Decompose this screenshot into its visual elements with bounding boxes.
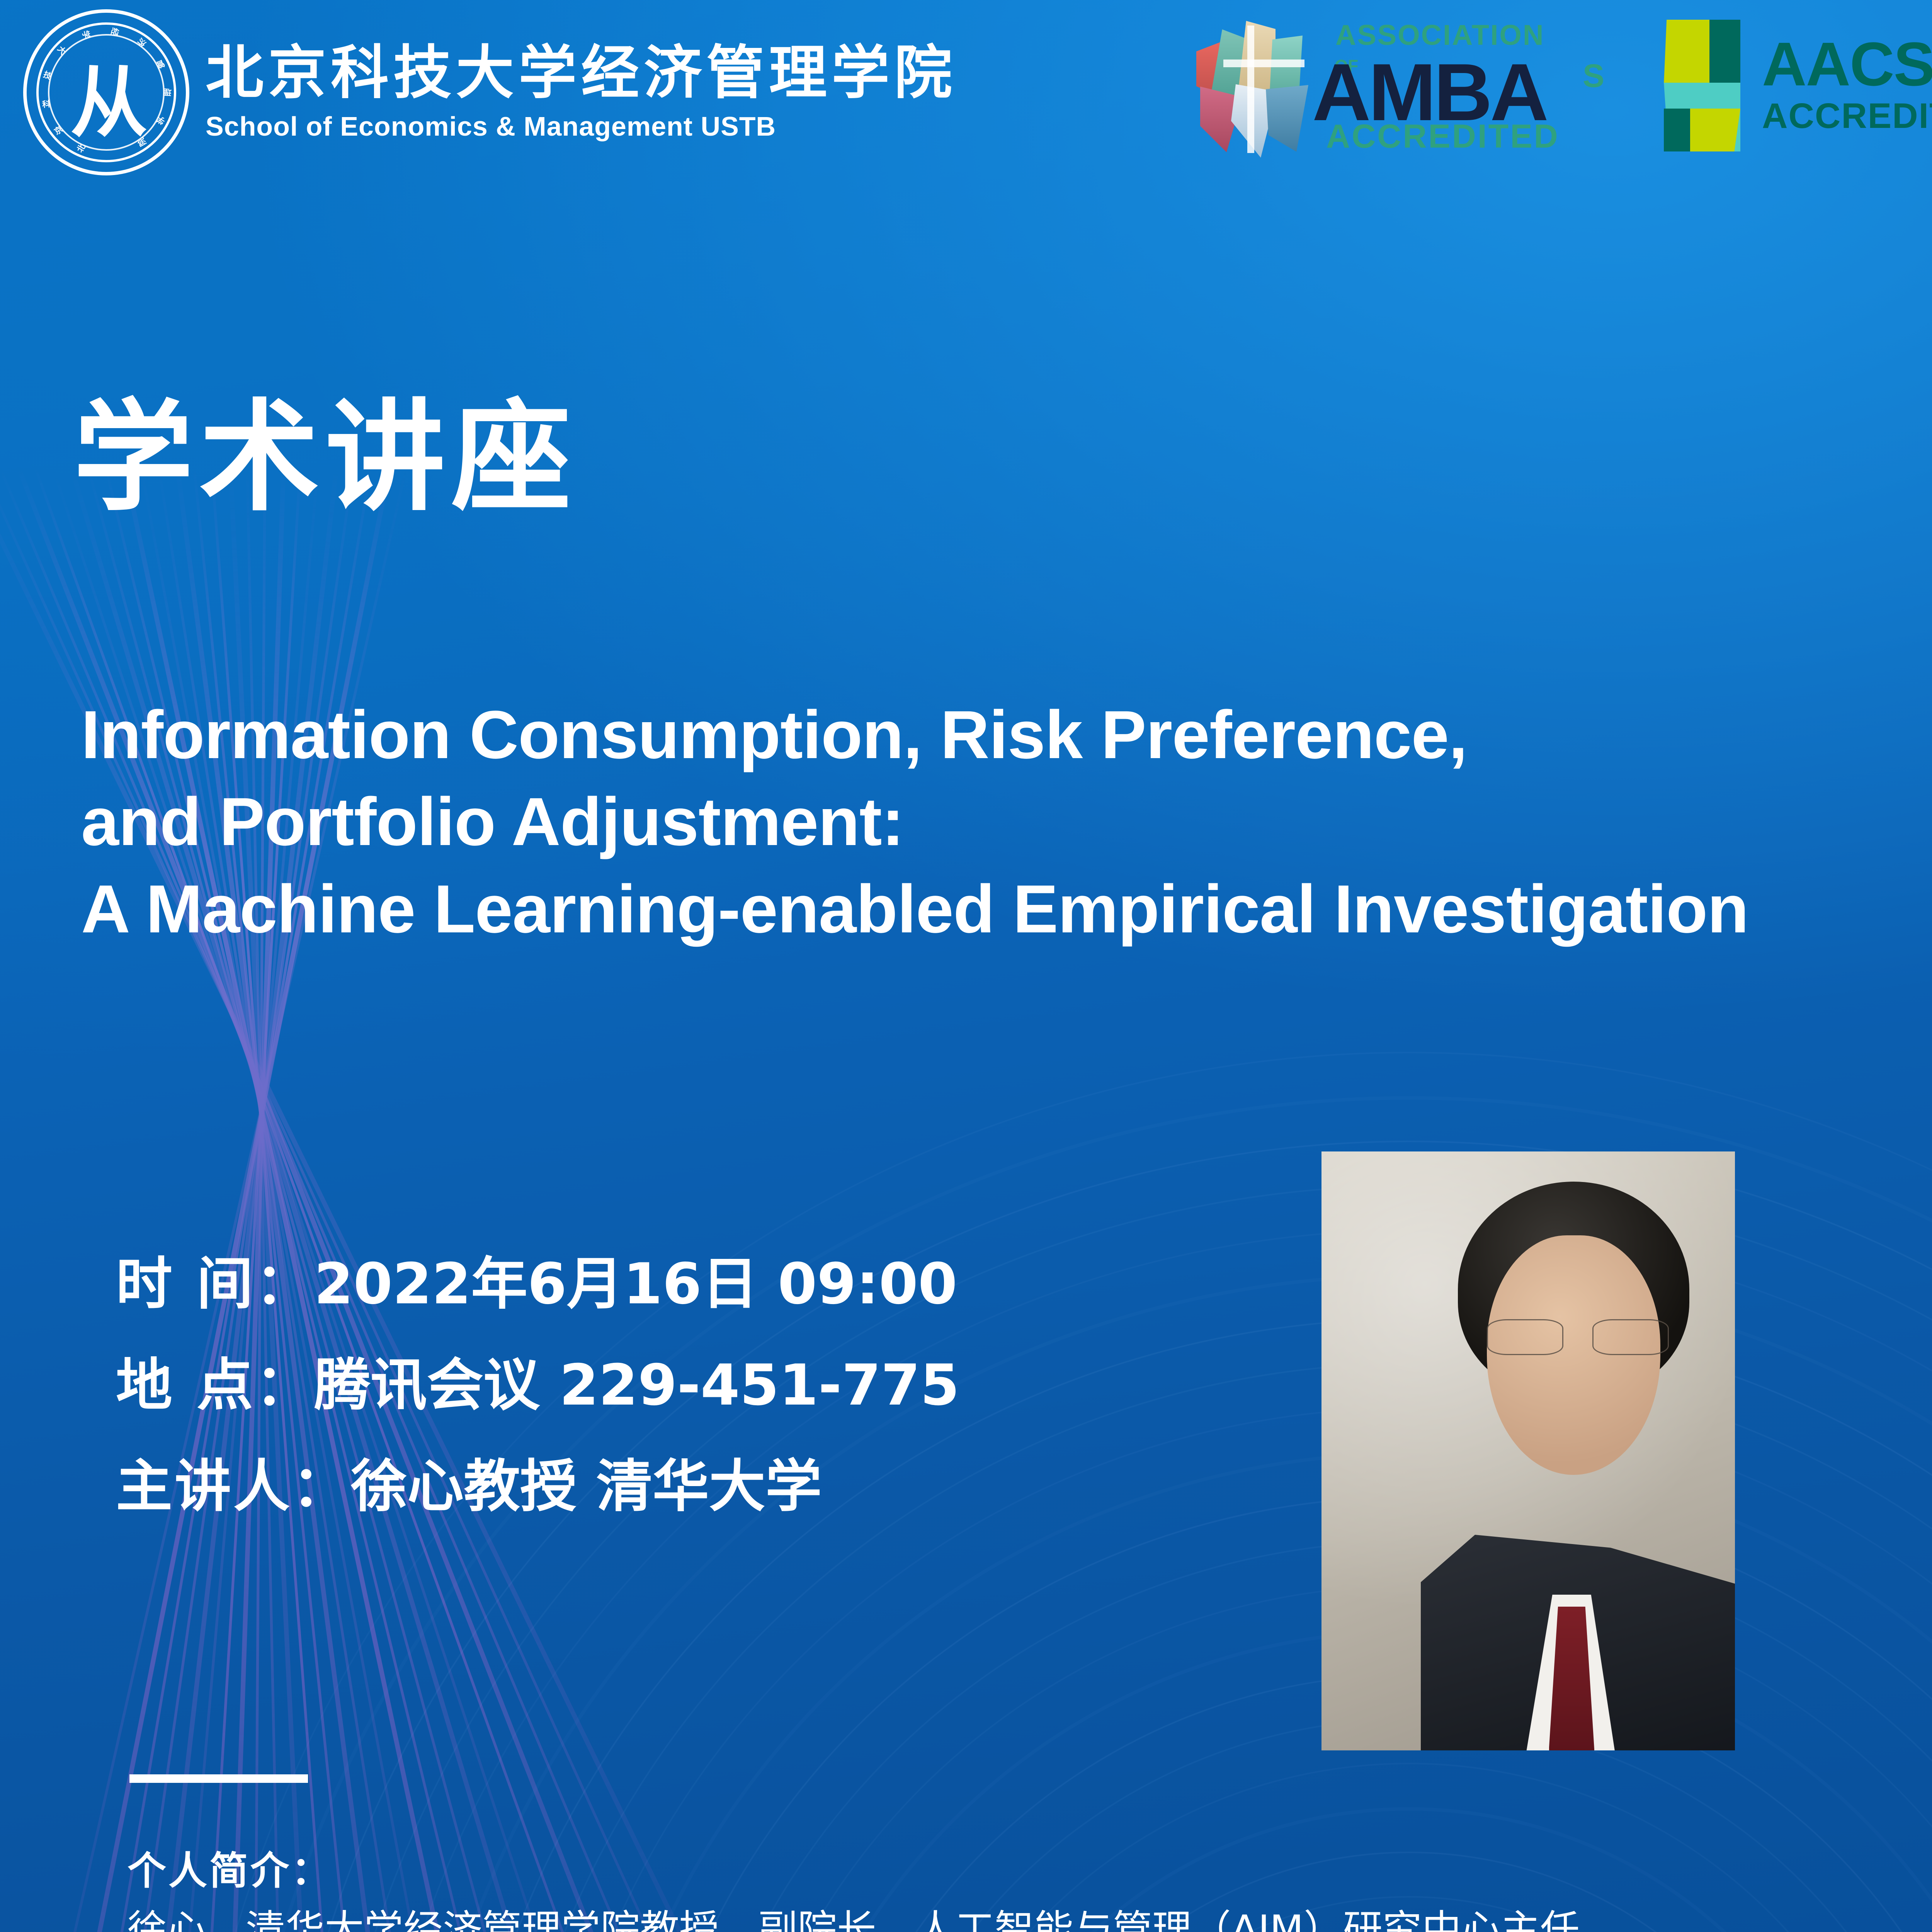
amba-accredited-text: ACCREDITED — [1326, 117, 1560, 156]
detail-value-time: 2022年6月16日 09:00 — [314, 1251, 957, 1317]
school-name-block: 北京科技大学经济管理学院 School of Economics & Manag… — [206, 43, 957, 142]
detail-label-location: 地 点： — [116, 1352, 314, 1418]
detail-row-location: 地 点：腾讯会议 229-451-775 — [116, 1357, 959, 1413]
talk-title-line-2: and Portfolio Adjustment: — [81, 779, 1932, 866]
talk-title-line-1: Information Consumption, Risk Preference… — [81, 692, 1932, 779]
violet-stripe-fan — [0, 464, 920, 1932]
accreditation-logos: ASSOCIATION OF AMBA S ACCREDITED — [1196, 14, 1932, 157]
talk-title: Information Consumption, Risk Preference… — [81, 692, 1932, 953]
talk-details: 时 间：2022年6月16日 09:00 地 点：腾讯会议 229-451-77… — [116, 1256, 959, 1560]
detail-row-time: 时 间：2022年6月16日 09:00 — [116, 1256, 959, 1312]
poster-header: 北京科技大学经济管理学院 从 北京科技大学经济管理学院 School of Ec… — [0, 0, 1932, 216]
speaker-bio: 个人简介： 徐心，清华大学经济管理学院教授、副院长、人工智能与管理（AIM）研究… — [128, 1839, 1881, 1932]
detail-label-time: 时 间： — [116, 1251, 314, 1317]
school-name-cn: 北京科技大学经济管理学院 — [206, 43, 957, 104]
aacsb-mark-icon — [1664, 20, 1753, 151]
detail-value-speaker: 徐心教授 清华大学 — [351, 1454, 822, 1519]
amba-wordmark: ASSOCIATION OF AMBA S ACCREDITED — [1312, 14, 1652, 157]
aacsb-accredited-text: ACCREDITED — [1762, 96, 1932, 136]
talk-title-line-3: A Machine Learning-enabled Empirical Inv… — [81, 866, 1932, 953]
amba-gem-icon — [1196, 18, 1316, 153]
detail-label-speaker: 主讲人： — [116, 1454, 351, 1519]
detail-row-speaker: 主讲人：徐心教授 清华大学 — [116, 1458, 959, 1515]
amba-plural-text: S — [1583, 57, 1604, 95]
speaker-portrait — [1321, 1151, 1735, 1750]
lecture-poster: 中華之崛起 七六届毕业生于八四年七月 敬立 北京科技大学经济管理学院 从 北京科… — [0, 0, 1932, 1932]
aacsb-wordmark: AACSB ACCREDITED — [1762, 35, 1932, 136]
amba-accredited-logo: ASSOCIATION OF AMBA S ACCREDITED — [1196, 14, 1652, 157]
school-seal-icon: 北京科技大学经济管理学院 从 — [23, 9, 189, 175]
aacsb-accredited-logo: AACSB ACCREDITED — [1664, 16, 1932, 155]
bio-heading: 个人简介： — [128, 1839, 1881, 1895]
section-divider — [129, 1774, 308, 1783]
school-logo: 北京科技大学经济管理学院 从 北京科技大学经济管理学院 School of Ec… — [23, 9, 957, 175]
detail-value-location: 腾讯会议 229-451-775 — [314, 1352, 959, 1418]
school-name-en: School of Economics & Management USTB — [206, 111, 957, 142]
aacsb-main-text: AACSB — [1762, 35, 1932, 94]
bio-line-1: 徐心，清华大学经济管理学院教授、副院长、人工智能与管理（AIM）研究中心主任。 — [128, 1905, 1881, 1932]
page-title: 学术讲座 — [73, 398, 577, 518]
